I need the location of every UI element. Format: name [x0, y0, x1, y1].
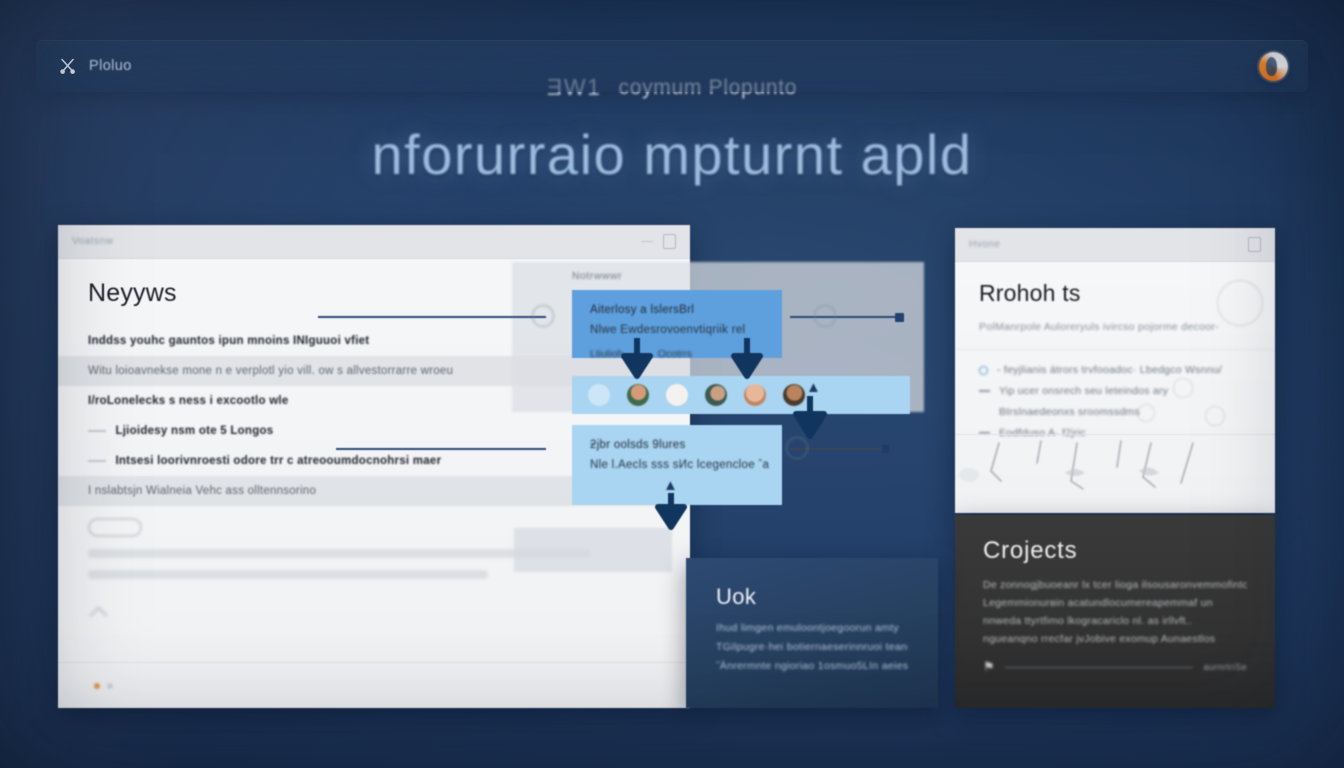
news-item-text: Witu loioavnekse mone n e verplotl yio v… [88, 365, 453, 377]
connector-endpoint [882, 445, 889, 453]
caret-up-icon: ▲ [806, 380, 821, 395]
avatar[interactable] [588, 384, 610, 406]
flow-node-line: Nle l.Aeсls sss sИc lcegencloe ˆa [590, 459, 764, 471]
circle-bullet-icon [979, 366, 988, 375]
projects-card: Crojects De zonnogjbuoeanr lx tcer lioga… [955, 515, 1275, 708]
reports-item-text: Btrslnaedeonxs sroomssdms [999, 406, 1140, 418]
flow-node-line: Aiterlosy a lslersBrl [590, 304, 764, 316]
caret-up-icon: ▲ [663, 478, 678, 493]
projects-footer-text: aurnrtriSe [1203, 662, 1247, 672]
chevron-up-icon[interactable] [89, 606, 107, 624]
list-item[interactable]: Yip ucer onsrech seu leteindos ary [979, 385, 1251, 397]
divider [955, 434, 1275, 435]
news-item-text: I/roLonelecks s ness i excootlo wle [88, 395, 289, 407]
uok-card: Uok Ihud limgen emuloontjoegoorun amty T… [686, 558, 938, 708]
news-chrome-actions[interactable] [641, 234, 676, 249]
placeholder-block [514, 528, 672, 572]
connector-endpoint [895, 313, 904, 322]
reports-subtitle: PolManrpole Auloreryuls ivircso pojorme … [955, 321, 1275, 350]
reports-chrome-actions[interactable] [1248, 237, 1261, 252]
connector-node [786, 437, 808, 459]
news-item-text: I nslabtsjn Wialneia Vehc ass olltennsor… [88, 485, 316, 497]
reports-chrome-label: Hvone [969, 239, 1000, 250]
projects-title: Crojects [983, 537, 1247, 565]
reports-title: Rrohoh ts [979, 280, 1251, 307]
flow-node-line: ƻjbr oolsds 9lures [590, 439, 764, 451]
flow-node-meta: Ltiulioh [590, 348, 623, 360]
sparkline-chart [955, 437, 1275, 501]
uok-line: ˝Ànrermnte ngioriao 1osmuo5LIn aeies [716, 660, 908, 672]
reports-item-text: Yip ucer onsrech seu leteindos ary [999, 385, 1168, 397]
connector-line [318, 316, 546, 318]
flow-node-meta: Ocotrrs [658, 348, 692, 360]
projects-line: nnweda ttyrtfimo lkogracariclo nl. as ir… [983, 615, 1247, 627]
panel-board: Voatsnw Neyyws Inddss youhc gauntos ipun… [0, 0, 1344, 768]
projects-footer: ⚑ aurnrtriSe [983, 659, 1247, 675]
status-dot [94, 683, 100, 689]
connector-line [336, 448, 546, 450]
projects-line: De zonnogjbuoeanr lx tcer lioga ilsousar… [983, 579, 1247, 591]
avatar[interactable] [705, 384, 727, 406]
placeholder-row [88, 570, 488, 579]
avatar[interactable] [744, 384, 766, 406]
news-chrome-label: Voatsnw [72, 236, 113, 247]
news-card-chrome: Voatsnw [58, 225, 690, 259]
decor-ring [1217, 280, 1263, 326]
placeholder-pill [88, 518, 142, 537]
avatar-row[interactable] [572, 376, 910, 414]
uok-line: Ihud limgen emuloontjoegoorun amty [716, 622, 908, 634]
connector-line [790, 316, 900, 318]
projects-line: ngueanqno rrecfar jvJobive exomup Aunaes… [983, 633, 1247, 645]
screen-root: Ploluo ƎW1 coymum Plopunto nforurraio mp… [0, 0, 1344, 768]
news-item-text: Inddss youhc gauntos ipun mnoins INIguuo… [88, 335, 369, 347]
avatar[interactable] [666, 384, 688, 406]
flow-caption: Notrwwwr [572, 270, 622, 282]
connector-node [814, 305, 836, 327]
flag-icon: ⚑ [983, 659, 995, 675]
flow-node-line: Nlwe Ewdesrovoenvtiqriik rel [590, 324, 764, 336]
connector-node [532, 305, 554, 327]
decor-ring [1205, 406, 1225, 426]
reports-item-text: - feyjlianis átrors trvfooadoc· Lbedgco … [997, 364, 1222, 376]
news-item-text: Ljioidesy nsm ote 5 Longos [115, 425, 273, 437]
dash-icon [88, 460, 106, 462]
divider [1005, 667, 1194, 668]
uok-line: TGilpugre·hei botiernaeserinnruoi teanog [716, 641, 908, 653]
document-icon[interactable] [663, 234, 676, 249]
news-footer [58, 662, 690, 708]
decor-ring [1173, 378, 1193, 398]
minimize-icon[interactable] [641, 241, 653, 243]
news-item-text: Intsesi loorivnroesti odore trr c atreoo… [115, 455, 441, 467]
reports-card: Hvone Rrohoh ts PolManrpole Auloreryuls … [955, 228, 1275, 513]
dash-icon [88, 430, 106, 432]
uok-title: Uok [716, 584, 908, 610]
expand-icon[interactable] [1248, 237, 1261, 252]
projects-line: Legemmionurвin acatundlocumereapemmaf un [983, 597, 1247, 609]
status-dot [107, 683, 113, 689]
reports-card-chrome: Hvone [955, 228, 1275, 262]
dash-bullet-icon [979, 390, 990, 392]
decor-ring [1137, 404, 1155, 422]
list-item[interactable]: - feyjlianis átrors trvfooadoc· Lbedgco … [979, 364, 1251, 376]
avatar[interactable] [627, 384, 649, 406]
